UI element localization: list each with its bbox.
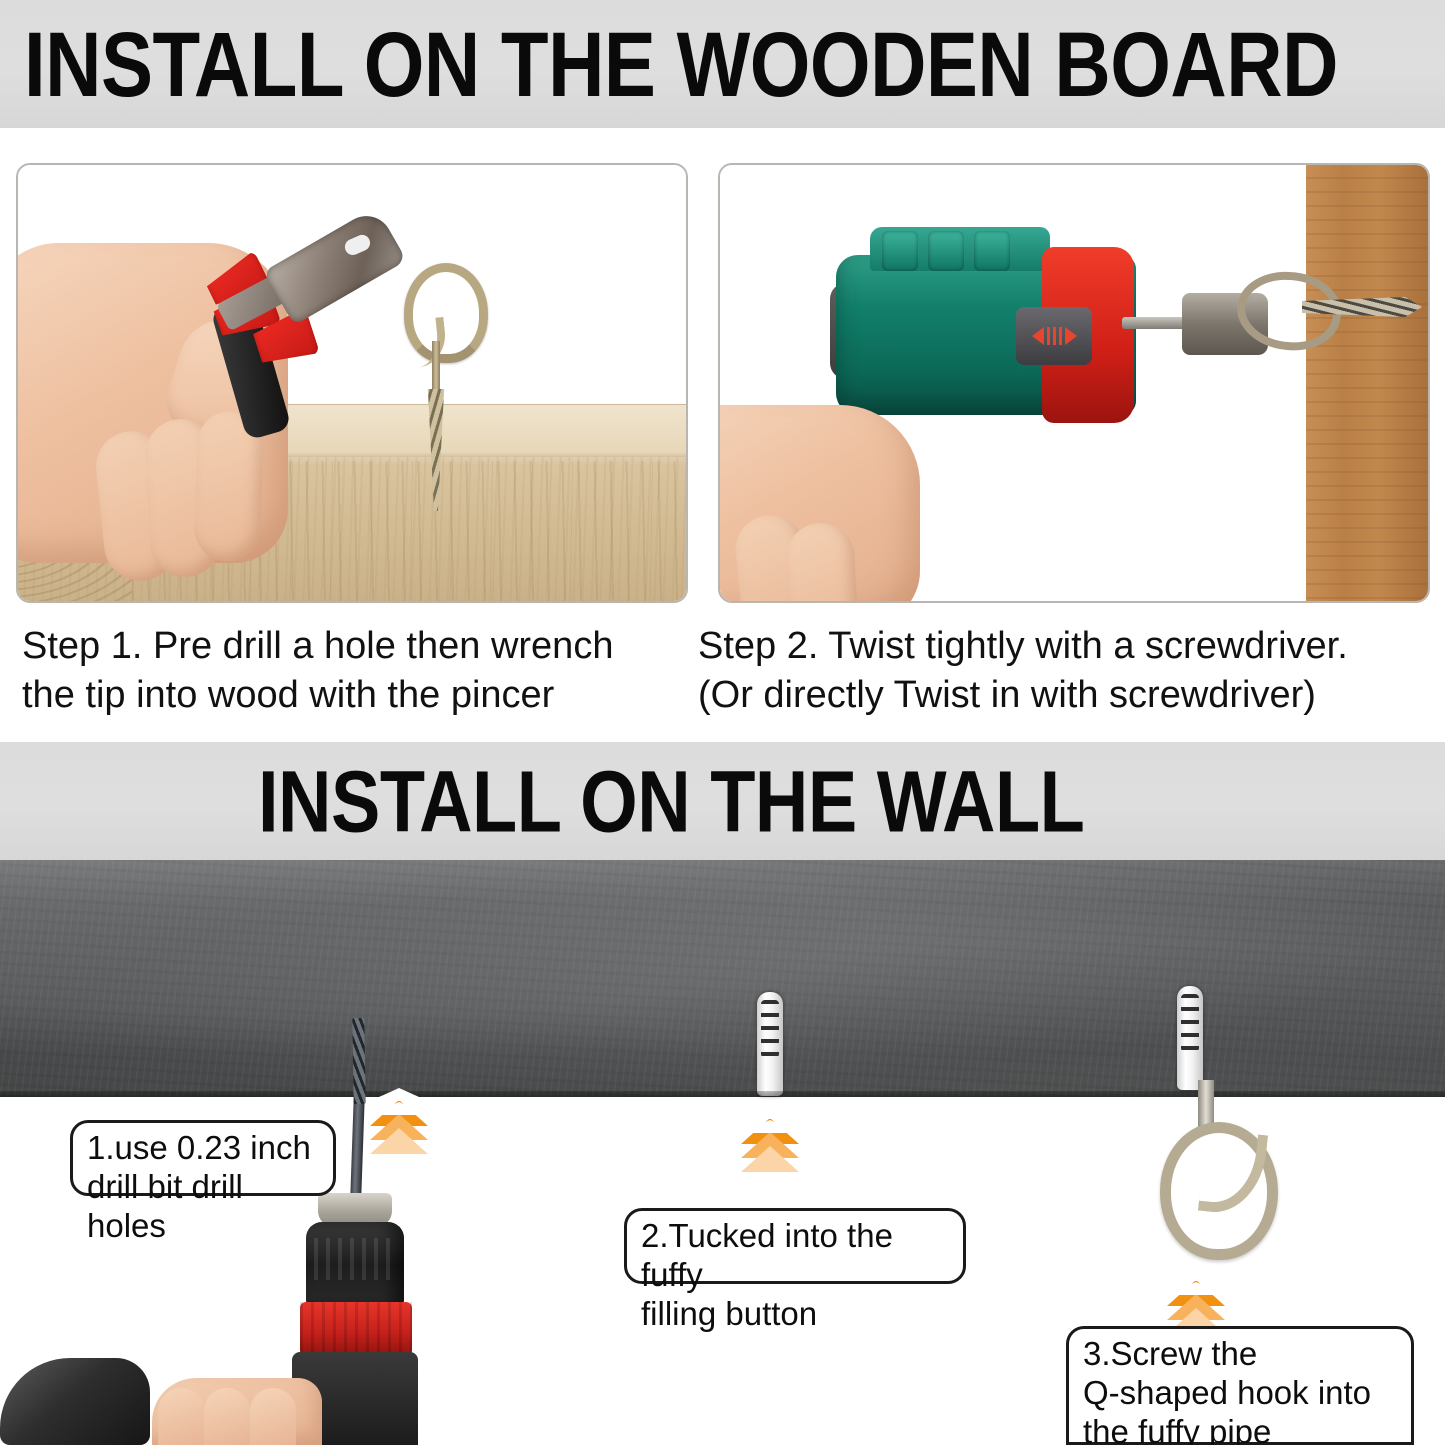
drill-bit-lower bbox=[350, 1098, 364, 1196]
section-header-wooden-board: INSTALL ON THE WOODEN BOARD bbox=[0, 0, 1445, 128]
photo-card-step-2 bbox=[718, 163, 1430, 603]
chevron-notch bbox=[1167, 1282, 1225, 1295]
arrow-right-icon bbox=[1065, 327, 1077, 345]
pliers-head bbox=[263, 207, 407, 326]
wall-anchor-center bbox=[757, 992, 783, 1096]
callout-step-2: 2.Tucked into the fuffy filling button bbox=[624, 1208, 966, 1284]
chevron-notch bbox=[741, 1120, 799, 1133]
hand-holding-drill bbox=[152, 1378, 322, 1445]
direction-switch bbox=[1016, 307, 1092, 365]
callout-step-1: 1.use 0.23 inch drill bit drill holes bbox=[70, 1120, 336, 1196]
hand-holding-screwdriver bbox=[718, 405, 920, 603]
switch-bar-1 bbox=[1047, 327, 1050, 345]
chevron-notch bbox=[370, 1102, 428, 1115]
vent-slot-1 bbox=[882, 231, 918, 271]
chevron-up-icon bbox=[370, 1128, 428, 1154]
finger-2 bbox=[204, 1388, 250, 1445]
drill-battery bbox=[0, 1358, 150, 1445]
concrete-wall bbox=[0, 860, 1445, 1097]
scene-screwdriver-into-post bbox=[720, 165, 1428, 601]
hook-screw-thread bbox=[424, 389, 448, 511]
chevron-notch bbox=[741, 1106, 799, 1119]
arrow-stack-step-2 bbox=[741, 1118, 799, 1160]
instruction-graphic: INSTALL ON THE WOODEN BOARD bbox=[0, 0, 1445, 1445]
screw-eye-hook bbox=[396, 263, 492, 515]
anchor-ribs bbox=[761, 1000, 779, 1058]
caption-step-1: Step 1. Pre drill a hole then wrench the… bbox=[22, 622, 682, 719]
callout-step-3: 3.Screw the Q-shaped hook into the fuffy… bbox=[1066, 1326, 1414, 1445]
vent-slot-2 bbox=[928, 231, 964, 271]
hook-shank bbox=[432, 341, 440, 397]
vent-slot-3 bbox=[974, 231, 1010, 271]
wooden-post bbox=[1306, 163, 1430, 603]
anchor-ribs bbox=[1181, 994, 1199, 1052]
photo-card-step-1 bbox=[16, 163, 688, 603]
switch-bar-3 bbox=[1059, 327, 1062, 345]
finger-middle bbox=[785, 521, 859, 603]
scene-pliers-on-board bbox=[18, 165, 686, 601]
switch-bar-2 bbox=[1053, 327, 1056, 345]
finger-1 bbox=[158, 1388, 204, 1445]
finger-3 bbox=[250, 1388, 296, 1445]
q-shaped-hook-installed bbox=[1152, 1080, 1292, 1270]
section-header-wall: INSTALL ON THE WALL bbox=[0, 742, 1445, 860]
screw-eye-hook-in-driver bbox=[1240, 251, 1360, 381]
drill-bit-flute bbox=[352, 1018, 365, 1104]
arrow-stack-step-1 bbox=[370, 1100, 428, 1142]
heading-install-on-the-wall: INSTALL ON THE WALL bbox=[258, 751, 1084, 851]
heading-install-on-wooden-board: INSTALL ON THE WOODEN BOARD bbox=[24, 10, 1338, 117]
arrow-left-icon bbox=[1032, 327, 1044, 345]
drill-chuck bbox=[306, 1222, 404, 1308]
drill-torque-ring bbox=[300, 1302, 412, 1356]
chevron-up-icon bbox=[741, 1146, 799, 1172]
arrow-stack-step-3 bbox=[1167, 1280, 1225, 1322]
caption-step-2: Step 2. Twist tightly with a screwdriver… bbox=[698, 622, 1438, 719]
chevron-notch bbox=[370, 1088, 428, 1101]
wall-anchor-right bbox=[1177, 986, 1203, 1090]
